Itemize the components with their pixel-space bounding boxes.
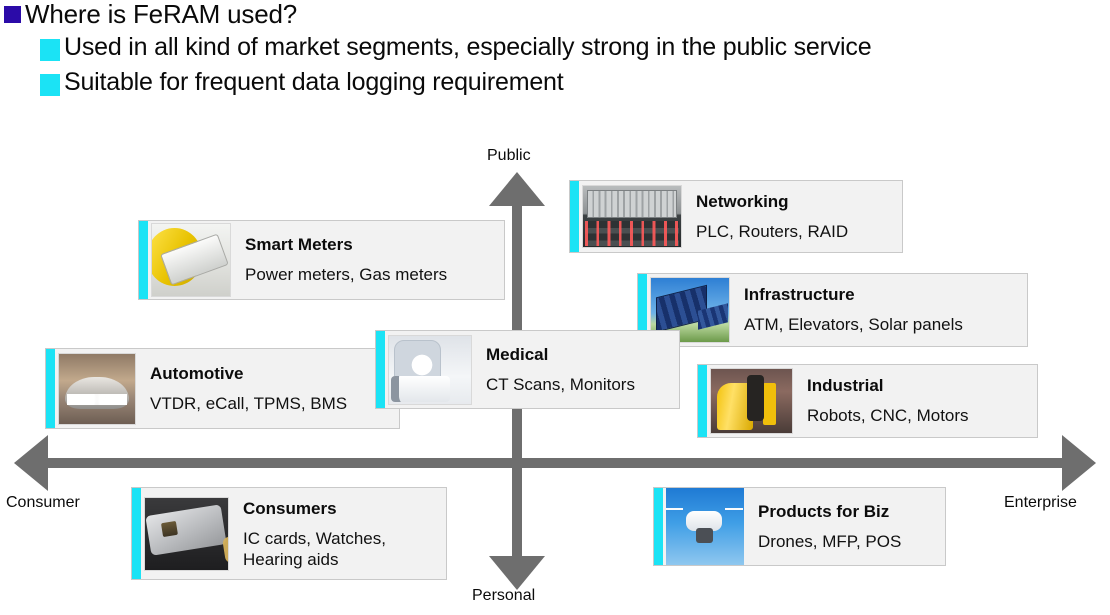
- card-accent-bar: [654, 488, 663, 565]
- card-title: Infrastructure: [744, 284, 1019, 305]
- card-title: Products for Biz: [758, 501, 937, 522]
- card-infrastructure[interactable]: Infrastructure ATM, Elevators, Solar pan…: [637, 273, 1028, 347]
- axis-label-consumer: Consumer: [6, 493, 80, 512]
- card-consumers[interactable]: Consumers IC cards, Watches, Hearing aid…: [131, 487, 447, 580]
- card-accent-bar: [46, 349, 55, 428]
- card-text: Automotive VTDR, eCall, TPMS, BMS: [136, 349, 399, 428]
- card-title: Automotive: [150, 363, 391, 384]
- header-bullet-row-1: Used in all kind of market segments, esp…: [0, 32, 1110, 63]
- card-description: CT Scans, Monitors: [486, 374, 671, 396]
- header-title-row: Where is FeRAM used?: [0, 0, 1110, 30]
- card-title: Smart Meters: [245, 234, 496, 255]
- smart-meter-photo: [151, 223, 231, 297]
- horizontal-axis-icon: [14, 435, 1096, 491]
- card-accent-bar: [570, 181, 579, 252]
- sub-bullet-icon: [40, 39, 60, 61]
- slide: Where is FeRAM used? Used in all kind of…: [0, 0, 1110, 615]
- card-description: VTDR, eCall, TPMS, BMS: [150, 393, 391, 415]
- axis-label-public: Public: [487, 146, 531, 165]
- card-accent-bar: [376, 331, 385, 408]
- card-description: PLC, Routers, RAID: [696, 221, 894, 243]
- card-text: Industrial Robots, CNC, Motors: [793, 365, 1037, 437]
- robot-arm-photo: [710, 368, 793, 434]
- card-title: Industrial: [807, 375, 1029, 396]
- axis-label-enterprise: Enterprise: [1004, 493, 1077, 512]
- ic-card-photo: [144, 497, 229, 571]
- card-automotive[interactable]: Automotive VTDR, eCall, TPMS, BMS: [45, 348, 400, 429]
- card-description: IC cards, Watches, Hearing aids: [243, 528, 418, 570]
- card-description: Robots, CNC, Motors: [807, 405, 1029, 427]
- axis-label-personal: Personal: [472, 586, 535, 605]
- card-accent-bar: [698, 365, 707, 437]
- card-text: Medical CT Scans, Monitors: [472, 331, 679, 408]
- card-description: Drones, MFP, POS: [758, 531, 937, 553]
- card-medical[interactable]: Medical CT Scans, Monitors: [375, 330, 680, 409]
- card-title: Networking: [696, 191, 894, 212]
- card-title: Medical: [486, 344, 671, 365]
- card-industrial[interactable]: Industrial Robots, CNC, Motors: [697, 364, 1038, 438]
- title-bullet-icon: [4, 6, 21, 23]
- header-bullet-text-2: Suitable for frequent data logging requi…: [64, 67, 563, 98]
- card-text: Smart Meters Power meters, Gas meters: [231, 221, 504, 299]
- card-networking[interactable]: Networking PLC, Routers, RAID: [569, 180, 903, 253]
- page-title: Where is FeRAM used?: [25, 0, 297, 30]
- server-rack-photo: [582, 185, 682, 248]
- card-description: Power meters, Gas meters: [245, 264, 496, 286]
- sub-bullet-icon: [40, 74, 60, 96]
- card-text: Infrastructure ATM, Elevators, Solar pan…: [730, 274, 1027, 346]
- card-text: Products for Biz Drones, MFP, POS: [744, 488, 945, 565]
- header-bullet-text-1: Used in all kind of market segments, esp…: [64, 32, 871, 63]
- card-accent-bar: [132, 488, 141, 579]
- drone-photo: [666, 488, 744, 565]
- card-description: ATM, Elevators, Solar panels: [744, 314, 1019, 336]
- car-photo: [58, 353, 136, 425]
- card-text: Consumers IC cards, Watches, Hearing aid…: [229, 488, 446, 579]
- card-accent-bar: [139, 221, 148, 299]
- card-products-for-biz[interactable]: Products for Biz Drones, MFP, POS: [653, 487, 946, 566]
- header-bullet-row-2: Suitable for frequent data logging requi…: [0, 67, 1110, 98]
- ct-scanner-photo: [388, 335, 472, 405]
- card-text: Networking PLC, Routers, RAID: [682, 181, 902, 252]
- card-title: Consumers: [243, 498, 438, 519]
- card-smart-meters[interactable]: Smart Meters Power meters, Gas meters: [138, 220, 505, 300]
- slide-header: Where is FeRAM used? Used in all kind of…: [0, 0, 1110, 98]
